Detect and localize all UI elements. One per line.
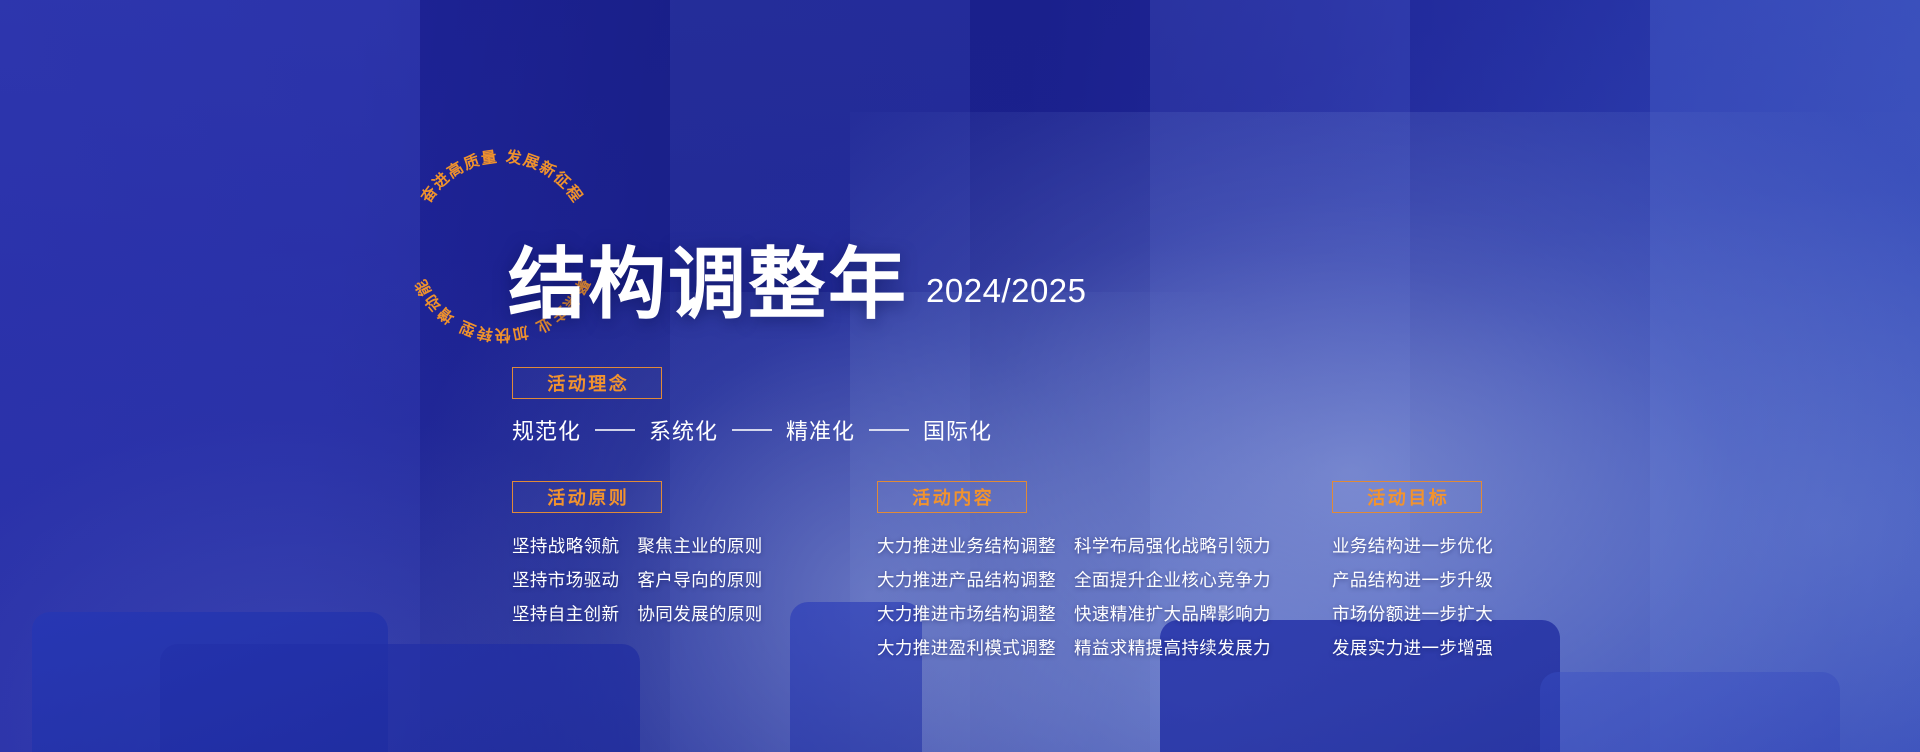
headline-group: 结构调整年 2024/2025 bbox=[508, 248, 1087, 322]
row-left-text: 大力推进产品结构调整 bbox=[877, 567, 1056, 592]
row-right-text: 客户导向的原则 bbox=[637, 567, 762, 592]
concept-keyword: 精准化 bbox=[786, 414, 855, 446]
list-item: 市场份额进一步扩大 bbox=[1332, 601, 1493, 626]
badge-activity-content: 活动内容 bbox=[877, 481, 1027, 513]
row-left-text: 大力推进业务结构调整 bbox=[877, 533, 1056, 558]
concept-keyword: 国际化 bbox=[923, 414, 992, 446]
list-item: 大力推进市场结构调整 快速精准扩大品牌影响力 bbox=[877, 601, 1271, 626]
list-item: 产品结构进一步升级 bbox=[1332, 567, 1493, 592]
row-left-text: 坚持自主创新 bbox=[512, 601, 619, 626]
row-left-text: 坚持战略领航 bbox=[512, 533, 619, 558]
badge-activity-goal: 活动目标 bbox=[1332, 481, 1482, 513]
seal-top-text: 奋进高质量 发展新征程 bbox=[416, 147, 586, 207]
concept-separator-icon bbox=[732, 429, 772, 431]
principle-row-list: 坚持战略领航 聚焦主业的原则 坚持市场驱动 客户导向的原则 坚持自主创新 协同发… bbox=[512, 533, 763, 626]
concept-separator-icon bbox=[595, 429, 635, 431]
column-activity-goal: 活动目标 业务结构进一步优化 产品结构进一步升级 市场份额进一步扩大 发展实力进… bbox=[1332, 481, 1493, 660]
list-item: 坚持自主创新 协同发展的原则 bbox=[512, 601, 763, 626]
row-left-text: 产品结构进一步升级 bbox=[1332, 567, 1493, 592]
column-activity-principle: 活动原则 坚持战略领航 聚焦主业的原则 坚持市场驱动 客户导向的原则 坚持自主创… bbox=[512, 481, 763, 626]
headline-year-label: 2024/2025 bbox=[926, 272, 1087, 322]
list-item: 坚持战略领航 聚焦主业的原则 bbox=[512, 533, 763, 558]
row-left-text: 业务结构进一步优化 bbox=[1332, 533, 1493, 558]
row-left-text: 发展实力进一步增强 bbox=[1332, 635, 1493, 660]
list-item: 大力推进盈利模式调整 精益求精提高持续发展力 bbox=[877, 635, 1271, 660]
row-right-text: 聚焦主业的原则 bbox=[637, 533, 762, 558]
banner-root: 奋进高质量 发展新征程 聚焦主业 加快转型 增动能 结构调整年 2024/202… bbox=[0, 0, 1920, 752]
concept-separator-icon bbox=[869, 429, 909, 431]
row-right-text: 精益求精提高持续发展力 bbox=[1074, 635, 1271, 660]
list-item: 大力推进业务结构调整 科学布局强化战略引领力 bbox=[877, 533, 1271, 558]
row-left-text: 大力推进市场结构调整 bbox=[877, 601, 1056, 626]
content-row-list: 大力推进业务结构调整 科学布局强化战略引领力 大力推进产品结构调整 全面提升企业… bbox=[877, 533, 1271, 660]
row-left-text: 大力推进盈利模式调整 bbox=[877, 635, 1056, 660]
row-left-text: 坚持市场驱动 bbox=[512, 567, 619, 592]
row-left-text: 市场份额进一步扩大 bbox=[1332, 601, 1493, 626]
row-right-text: 快速精准扩大品牌影响力 bbox=[1074, 601, 1271, 626]
row-right-text: 科学布局强化战略引领力 bbox=[1074, 533, 1271, 558]
list-item: 发展实力进一步增强 bbox=[1332, 635, 1493, 660]
page-title: 结构调整年 bbox=[508, 248, 908, 322]
goal-row-list: 业务结构进一步优化 产品结构进一步升级 市场份额进一步扩大 发展实力进一步增强 bbox=[1332, 533, 1493, 660]
row-right-text: 全面提升企业核心竞争力 bbox=[1074, 567, 1271, 592]
list-item: 大力推进产品结构调整 全面提升企业核心竞争力 bbox=[877, 567, 1271, 592]
concept-keyword-list: 规范化 系统化 精准化 国际化 bbox=[512, 414, 992, 446]
list-item: 业务结构进一步优化 bbox=[1332, 533, 1493, 558]
banner-content: 奋进高质量 发展新征程 聚焦主业 加快转型 增动能 结构调整年 2024/202… bbox=[0, 0, 1920, 752]
column-activity-content: 活动内容 大力推进业务结构调整 科学布局强化战略引领力 大力推进产品结构调整 全… bbox=[877, 481, 1271, 660]
concept-keyword: 系统化 bbox=[649, 414, 718, 446]
concept-keyword: 规范化 bbox=[512, 414, 581, 446]
badge-activity-principle: 活动原则 bbox=[512, 481, 662, 513]
list-item: 坚持市场驱动 客户导向的原则 bbox=[512, 567, 763, 592]
row-right-text: 协同发展的原则 bbox=[637, 601, 762, 626]
badge-activity-concept: 活动理念 bbox=[512, 367, 662, 399]
